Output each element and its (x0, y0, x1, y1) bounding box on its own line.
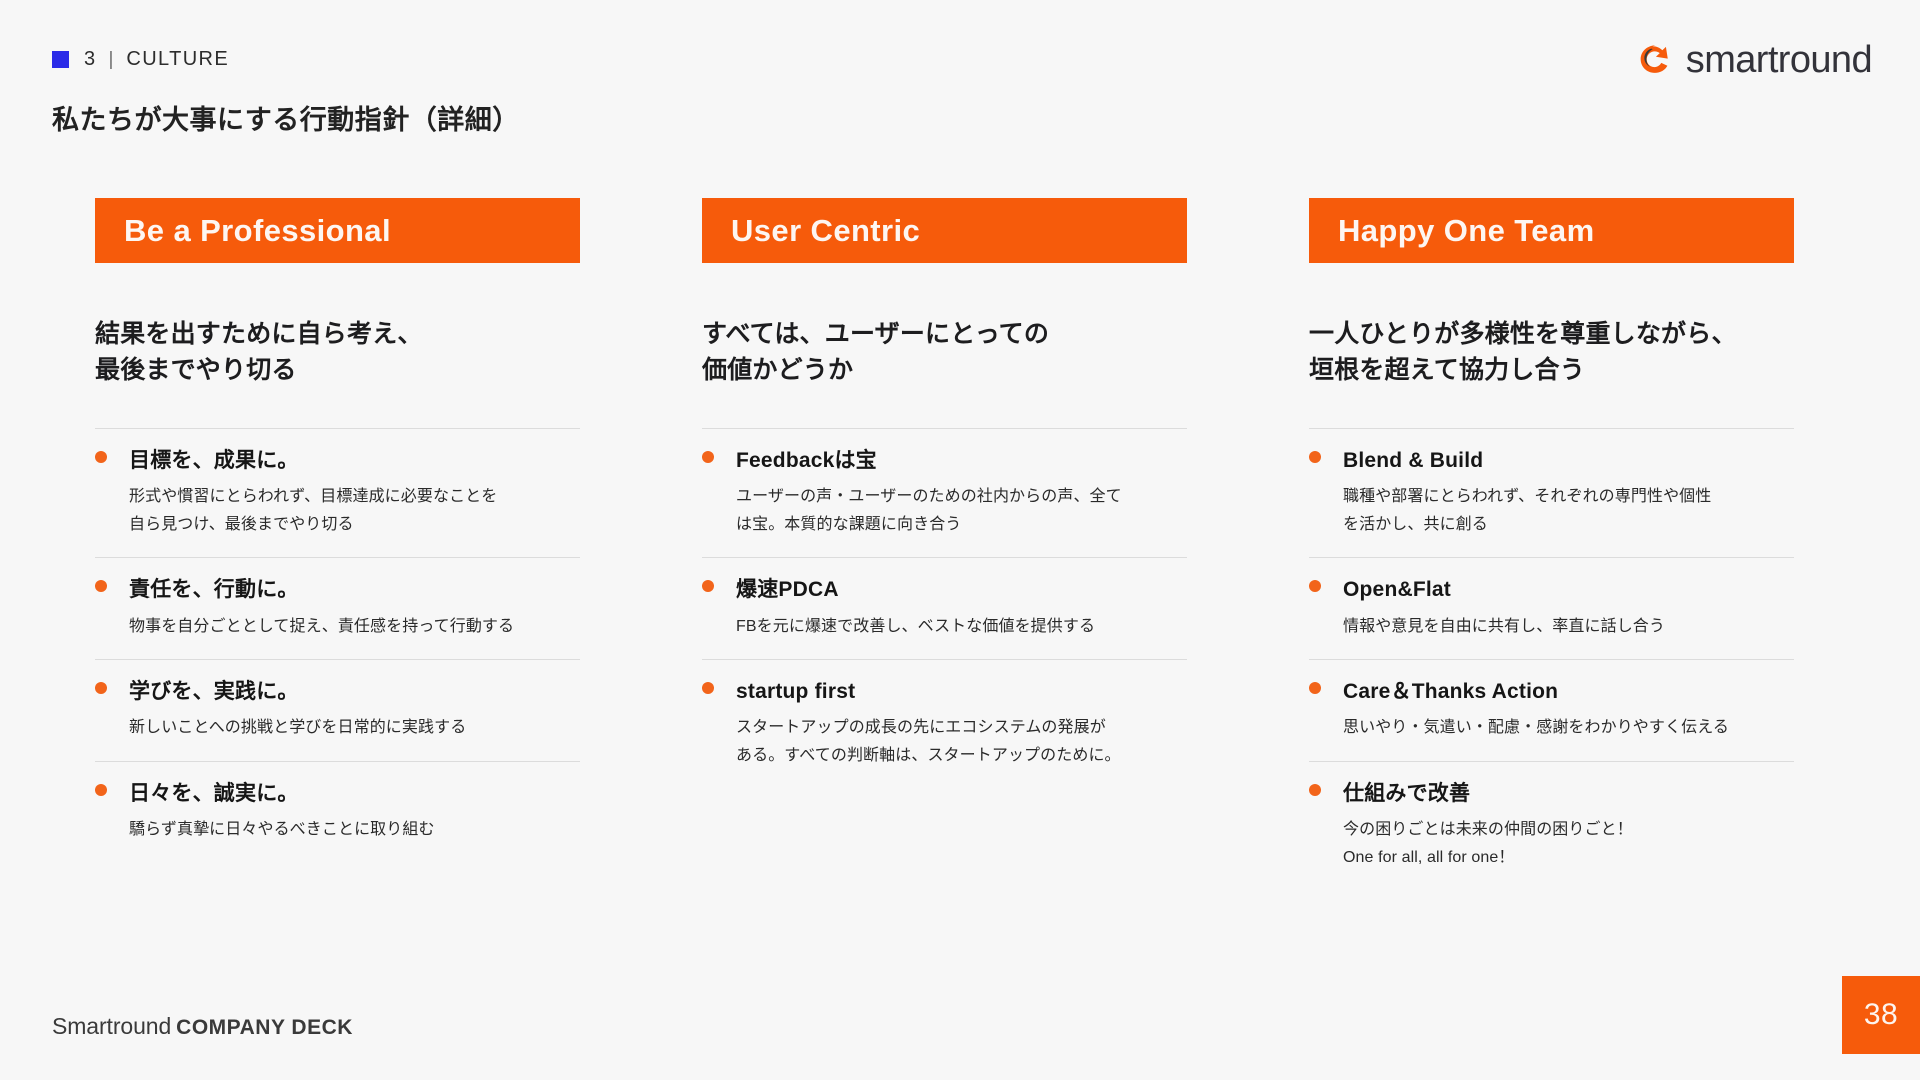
slide: 3 | CULTURE 私たちが大事にする行動指針（詳細） smartround… (0, 0, 1920, 1080)
list-item: startup first スタートアップの成長の先にエコシステムの発展がある。… (702, 659, 1187, 788)
column-item-list: Blend & Build 職種や部署にとらわれず、それぞれの専門性や個性を活か… (1309, 428, 1794, 890)
bullet-dot-icon (95, 451, 107, 463)
value-column-happy-one-team: Happy One Team 一人ひとりが多様性を尊重しながら、垣根を超えて協力… (1309, 198, 1794, 890)
bullet-dot-icon (702, 451, 714, 463)
circular-arrow-icon (1634, 40, 1674, 80)
list-item-head: startup first (702, 679, 1187, 705)
list-item-desc: ユーザーの声・ユーザーのための社内からの声、全ては宝。本質的な課題に向き合う (736, 483, 1187, 538)
bullet-dot-icon (702, 580, 714, 592)
list-item-head: 爆速PDCA (702, 577, 1187, 603)
section-marker-square (52, 51, 69, 68)
list-item-title: Open&Flat (1343, 577, 1451, 603)
list-item: Care＆Thanks Action 思いやり・気遣い・配慮・感謝をわかりやすく… (1309, 659, 1794, 761)
list-item-title: Blend & Build (1343, 448, 1483, 474)
footer-subtitle: COMPANY DECK (176, 1016, 353, 1040)
kicker-separator: | (108, 49, 113, 71)
list-item-head: Feedbackは宝 (702, 448, 1187, 474)
list-item: Open&Flat 情報や意見を自由に共有し、率直に話し合う (1309, 557, 1794, 659)
column-lead: すべては、ユーザーにとっての価値かどうか (702, 317, 1187, 388)
list-item: 爆速PDCA FBを元に爆速で改善し、ベストな価値を提供する (702, 557, 1187, 659)
brand-logo: smartround (1634, 40, 1872, 80)
list-item: 責任を、行動に。 物事を自分ごととして捉え、責任感を持って行動する (95, 557, 580, 659)
bullet-dot-icon (95, 682, 107, 694)
list-item-desc: 今の困りごとは未来の仲間の困りごと！One for all, all for o… (1343, 816, 1794, 871)
section-label: CULTURE (126, 48, 229, 71)
list-item-head: Blend & Build (1309, 448, 1794, 474)
page-number-badge: 38 (1842, 976, 1920, 1054)
page-number: 38 (1864, 998, 1898, 1032)
list-item-title: Care＆Thanks Action (1343, 679, 1558, 705)
list-item-head: Open&Flat (1309, 577, 1794, 603)
column-banner: Be a Professional (95, 198, 580, 263)
values-columns: Be a Professional 結果を出すために自ら考え、最後までやり切る … (95, 198, 1835, 890)
list-item-title: 学びを、実践に。 (129, 679, 299, 705)
list-item-title: 仕組みで改善 (1343, 781, 1470, 807)
column-item-list: 目標を、成果に。 形式や慣習にとらわれず、目標達成に必要なことを自ら見つけ、最後… (95, 428, 580, 863)
list-item: Blend & Build 職種や部署にとらわれず、それぞれの専門性や個性を活か… (1309, 428, 1794, 557)
list-item-head: Care＆Thanks Action (1309, 679, 1794, 705)
list-item-title: Feedbackは宝 (736, 448, 877, 474)
list-item-title: 日々を、誠実に。 (129, 781, 299, 807)
bullet-dot-icon (702, 682, 714, 694)
list-item-desc: 職種や部署にとらわれず、それぞれの専門性や個性を活かし、共に創る (1343, 483, 1794, 538)
section-number: 3 (84, 48, 95, 71)
column-banner: Happy One Team (1309, 198, 1794, 263)
list-item-title: startup first (736, 679, 855, 705)
column-lead: 一人ひとりが多様性を尊重しながら、垣根を超えて協力し合う (1309, 317, 1794, 388)
column-lead: 結果を出すために自ら考え、最後までやり切る (95, 317, 580, 388)
footer: Smartround COMPANY DECK (52, 1013, 353, 1040)
list-item: 学びを、実践に。 新しいことへの挑戦と学びを日常的に実践する (95, 659, 580, 761)
column-item-list: Feedbackは宝 ユーザーの声・ユーザーのための社内からの声、全ては宝。本質… (702, 428, 1187, 788)
bullet-dot-icon (95, 784, 107, 796)
list-item-desc: 新しいことへの挑戦と学びを日常的に実践する (129, 714, 580, 742)
bullet-dot-icon (95, 580, 107, 592)
list-item-title: 目標を、成果に。 (129, 448, 299, 474)
list-item-head: 学びを、実践に。 (95, 679, 580, 705)
list-item-head: 仕組みで改善 (1309, 781, 1794, 807)
brand-logo-text: smartround (1686, 41, 1872, 79)
list-item-desc: 物事を自分ごととして捉え、責任感を持って行動する (129, 613, 580, 641)
list-item: 仕組みで改善 今の困りごとは未来の仲間の困りごと！One for all, al… (1309, 761, 1794, 890)
bullet-dot-icon (1309, 682, 1321, 694)
footer-brand: Smartround (52, 1013, 171, 1040)
list-item: 日々を、誠実に。 驕らず真摯に日々やるべきことに取り組む (95, 761, 580, 863)
column-banner-label: Happy One Team (1338, 215, 1595, 246)
column-banner: User Centric (702, 198, 1187, 263)
list-item-desc: 驕らず真摯に日々やるべきことに取り組む (129, 816, 580, 844)
page-title: 私たちが大事にする行動指針（詳細） (52, 98, 520, 137)
list-item-title: 爆速PDCA (736, 577, 839, 603)
list-item-desc: FBを元に爆速で改善し、ベストな価値を提供する (736, 613, 1187, 641)
list-item-head: 目標を、成果に。 (95, 448, 580, 474)
value-column-user-centric: User Centric すべては、ユーザーにとっての価値かどうか Feedba… (702, 198, 1187, 890)
list-item-desc: 形式や慣習にとらわれず、目標達成に必要なことを自ら見つけ、最後までやり切る (129, 483, 580, 538)
list-item-desc: スタートアップの成長の先にエコシステムの発展がある。すべての判断軸は、スタートア… (736, 714, 1187, 769)
bullet-dot-icon (1309, 580, 1321, 592)
column-banner-label: User Centric (731, 215, 920, 246)
list-item: Feedbackは宝 ユーザーの声・ユーザーのための社内からの声、全ては宝。本質… (702, 428, 1187, 557)
column-banner-label: Be a Professional (124, 215, 391, 246)
list-item-head: 日々を、誠実に。 (95, 781, 580, 807)
slide-kicker: 3 | CULTURE (52, 48, 229, 71)
value-column-be-a-professional: Be a Professional 結果を出すために自ら考え、最後までやり切る … (95, 198, 580, 890)
bullet-dot-icon (1309, 451, 1321, 463)
list-item-head: 責任を、行動に。 (95, 577, 580, 603)
bullet-dot-icon (1309, 784, 1321, 796)
list-item-desc: 情報や意見を自由に共有し、率直に話し合う (1343, 613, 1794, 641)
list-item-title: 責任を、行動に。 (129, 577, 299, 603)
list-item: 目標を、成果に。 形式や慣習にとらわれず、目標達成に必要なことを自ら見つけ、最後… (95, 428, 580, 557)
list-item-desc: 思いやり・気遣い・配慮・感謝をわかりやすく伝える (1343, 714, 1794, 742)
